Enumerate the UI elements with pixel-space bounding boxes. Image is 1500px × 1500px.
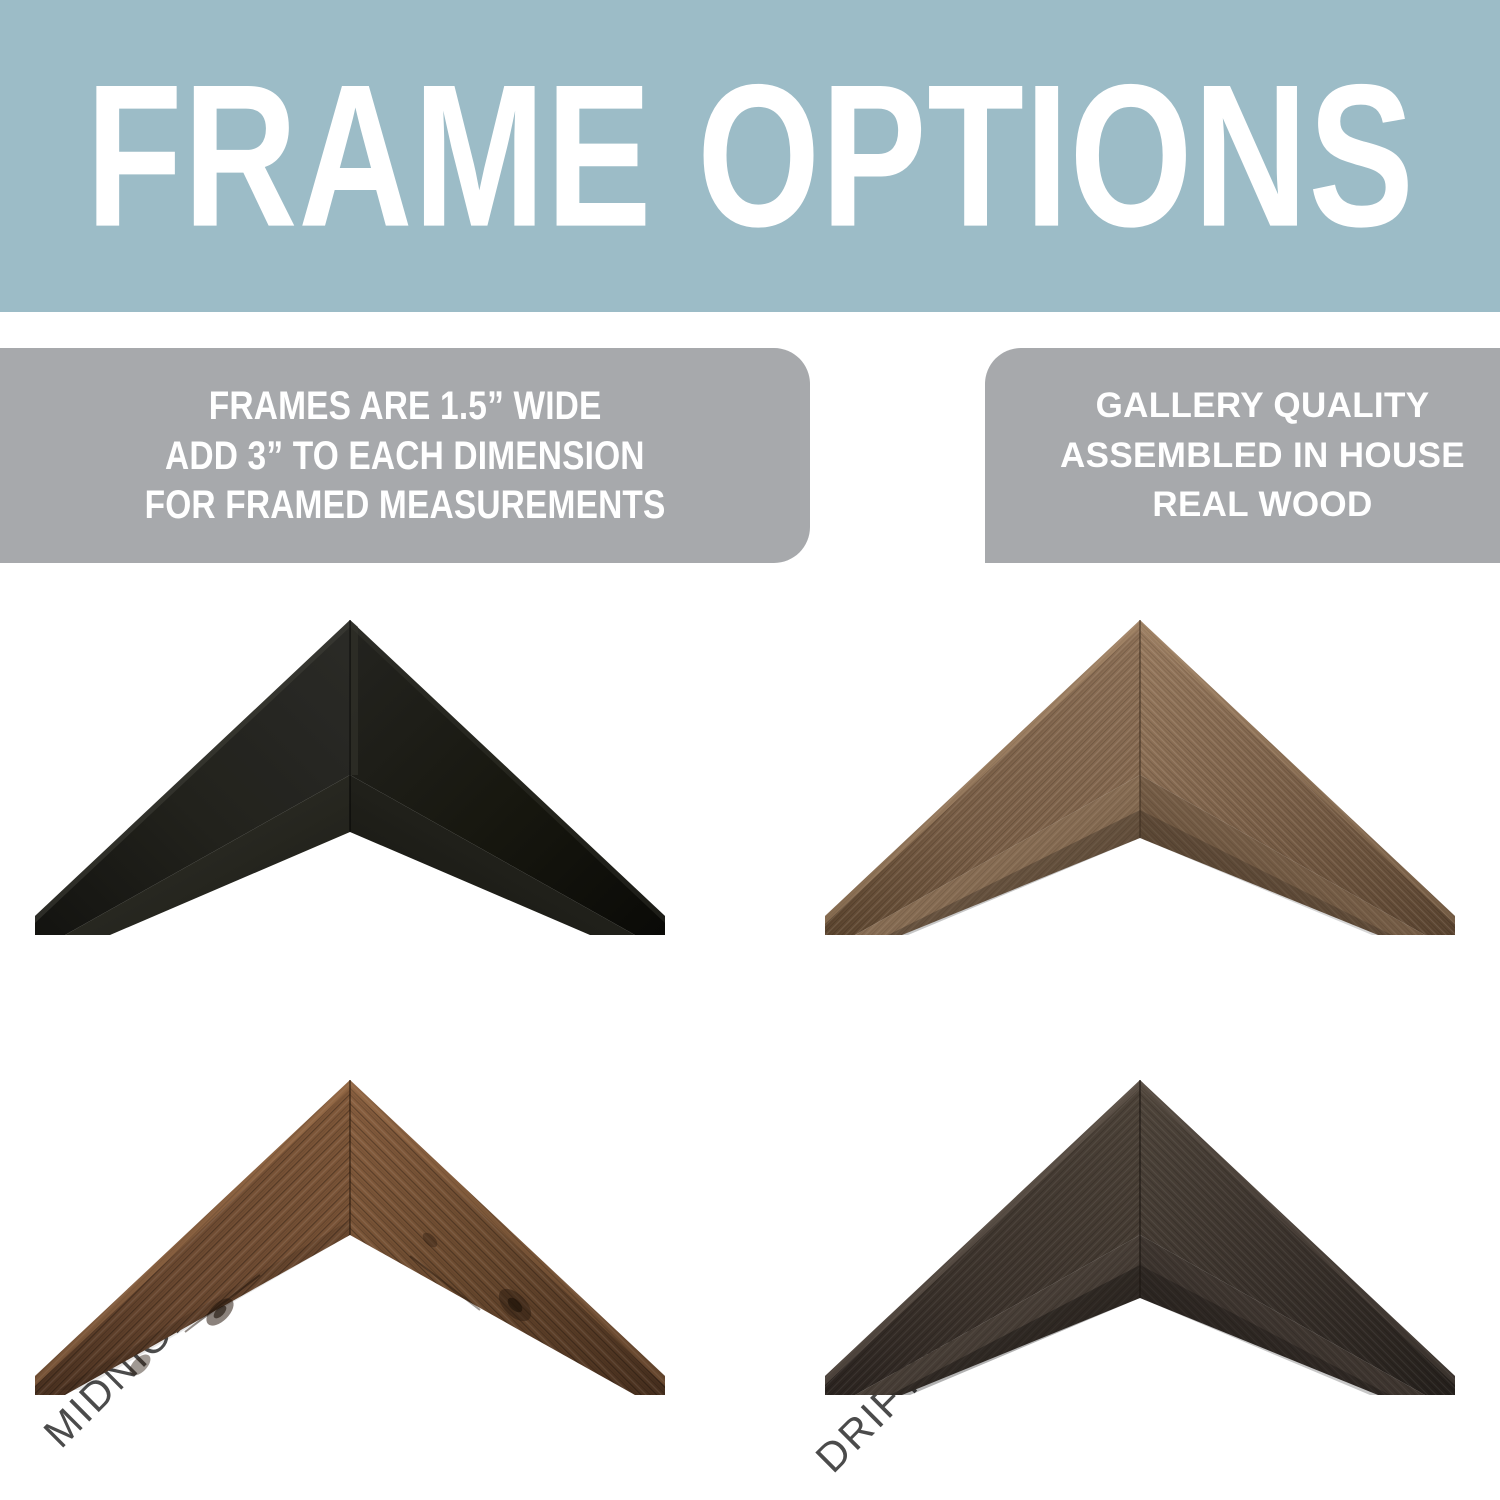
info-left-line-1: FRAMES ARE 1.5” WIDE xyxy=(209,379,602,434)
frame-sample-charcoal[interactable]: CHARCOAL xyxy=(800,1060,1500,1480)
frame-options-infographic: FRAME OPTIONS FRAMES ARE 1.5” WIDE ADD 3… xyxy=(0,0,1500,1500)
frame-sample-farmhouse[interactable]: FARMHOUSE xyxy=(10,1060,710,1480)
driftwood-frame-graphic xyxy=(800,600,1500,1020)
page-title: FRAME OPTIONS xyxy=(86,55,1415,258)
info-box-quality: GALLERY QUALITY ASSEMBLED IN HOUSE REAL … xyxy=(985,348,1500,563)
info-left-line-3: FOR FRAMED MEASUREMENTS xyxy=(145,478,666,533)
info-right-line-3: REAL WOOD xyxy=(1152,480,1372,530)
charcoal-frame-graphic xyxy=(800,1060,1500,1480)
info-right-line-2: ASSEMBLED IN HOUSE xyxy=(1060,431,1465,481)
farmhouse-frame-graphic xyxy=(10,1060,710,1480)
info-left-line-2: ADD 3” TO EACH DIMENSION xyxy=(165,428,645,483)
info-box-measurements: FRAMES ARE 1.5” WIDE ADD 3” TO EACH DIME… xyxy=(0,348,810,563)
frame-sample-midnight[interactable]: MIDNIGHT xyxy=(10,600,710,1020)
frame-sample-driftwood[interactable]: DRIFTWOOD xyxy=(800,600,1500,1020)
info-right-line-1: GALLERY QUALITY xyxy=(1096,381,1430,431)
header-banner: FRAME OPTIONS xyxy=(0,0,1500,312)
midnight-frame-graphic xyxy=(10,600,710,1020)
